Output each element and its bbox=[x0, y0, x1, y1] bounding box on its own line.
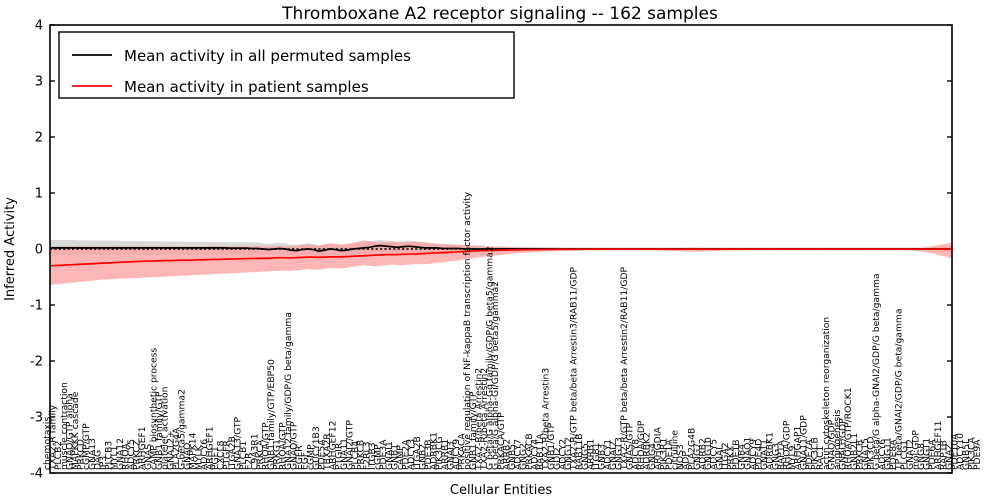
y-tick-label: 2 bbox=[35, 131, 43, 146]
y-tick-label: 0 bbox=[35, 243, 43, 258]
plot-figure: Thromboxane A2 receptor signaling -- 162… bbox=[0, 0, 1000, 500]
y-axis-label: Inferred Activity bbox=[3, 197, 18, 301]
y-tick-label: 1 bbox=[35, 187, 43, 202]
x-axis-label: Cellular Entities bbox=[450, 483, 552, 498]
legend-label-patient: Mean activity in patient samples bbox=[124, 78, 369, 96]
y-tick-label: -2 bbox=[30, 355, 43, 370]
chart-title: Thromboxane A2 receptor signaling -- 162… bbox=[281, 4, 718, 24]
x-tick-label: PDE9A bbox=[972, 439, 983, 470]
y-tick-label: 3 bbox=[35, 75, 43, 90]
legend-box: Mean activity in all permuted samples Me… bbox=[59, 32, 514, 98]
y-tick-label: -1 bbox=[30, 299, 43, 314]
legend-label-permuted: Mean activity in all permuted samples bbox=[124, 47, 411, 65]
y-tick-label: 4 bbox=[35, 19, 43, 34]
chart-svg: Thromboxane A2 receptor signaling -- 162… bbox=[0, 0, 1000, 500]
